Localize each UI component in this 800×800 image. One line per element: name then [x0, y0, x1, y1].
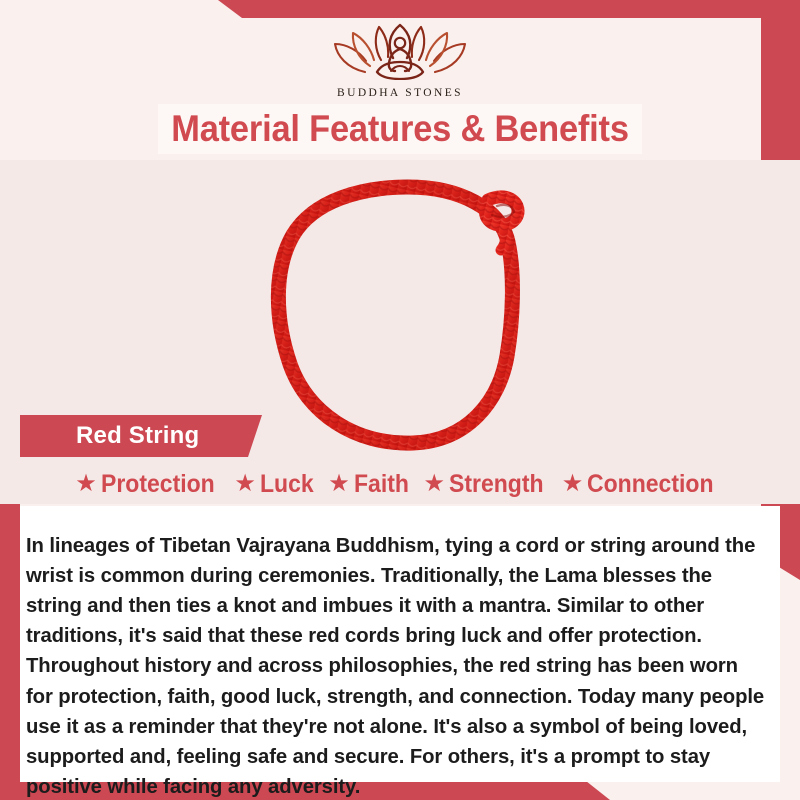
star-icon: ★ — [234, 472, 256, 496]
feature-connection: ★ Connection — [559, 470, 728, 499]
red-string-bracelet-image — [245, 170, 575, 470]
feature-label: Faith — [354, 470, 409, 499]
brand-name: BUDDHA STONES — [337, 87, 463, 99]
feature-label: Connection — [587, 470, 714, 499]
description-text: In lineages of Tibetan Vajrayana Buddhis… — [26, 531, 765, 800]
title-banner: Material Features & Benefits — [158, 104, 642, 154]
description-panel: In lineages of Tibetan Vajrayana Buddhis… — [20, 506, 780, 782]
feature-faith: ★ Faith — [325, 470, 416, 499]
feature-label: Luck — [260, 470, 314, 499]
feature-label: Strength — [449, 470, 544, 499]
star-icon: ★ — [75, 472, 97, 496]
star-icon: ★ — [328, 472, 350, 496]
material-label: Red String — [76, 422, 199, 450]
brand-logo: BUDDHA STONES — [0, 18, 800, 100]
feature-luck: ★ Luck — [231, 470, 321, 499]
material-features-poster: BUDDHA STONES Material Features & Benefi… — [0, 0, 800, 800]
feature-strength: ★ Strength — [420, 470, 554, 499]
material-label-band: Red String — [20, 415, 262, 457]
page-title: Material Features & Benefits — [171, 108, 629, 150]
feature-protection: ★ Protection — [72, 470, 227, 499]
feature-label: Protection — [101, 470, 215, 499]
star-icon: ★ — [562, 472, 584, 496]
star-icon: ★ — [423, 472, 445, 496]
lotus-meditation-icon — [325, 18, 475, 85]
features-row: ★ Protection ★ Luck ★ Faith ★ Strength ★… — [20, 464, 780, 504]
decorative-top-red-band — [0, 0, 800, 18]
